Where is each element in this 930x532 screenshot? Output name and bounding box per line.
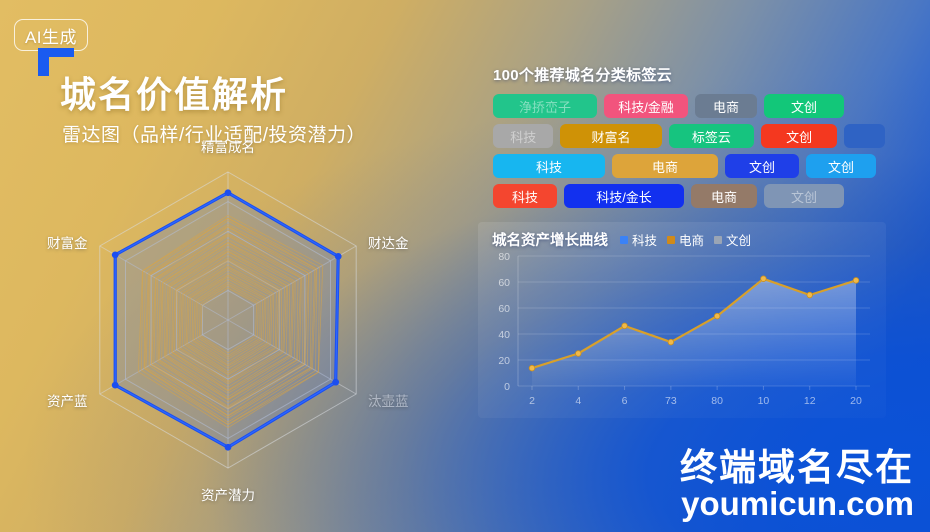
y-axis-tick-label: 40 [498,329,510,341]
y-axis-tick-label: 60 [498,303,510,315]
radar-axis-label-3: 资产潜力 [201,484,255,504]
growth-chart-legend: 科技电商文创 [620,230,751,249]
growth-chart-point [529,365,535,371]
legend-item[interactable]: 电商 [667,230,704,249]
tag-chip[interactable]: 浄挢峦子 [493,94,597,118]
x-axis-tick-label: 4 [575,395,581,407]
tag-chip[interactable]: 科技/金融 [604,94,688,118]
growth-chart-header: 城名资产增长曲线 科技电商文创 [492,229,751,250]
x-axis-tick-label: 73 [665,395,677,407]
radar-axis-label-5: 财富金 [47,232,88,252]
tag-chip[interactable]: 科技/金长 [564,184,684,208]
radar-axis-label-2: 汰壶蓝 [368,390,409,410]
watermark-line-cn: 终端域名尽在 [680,449,914,488]
legend-item[interactable]: 科技 [620,230,657,249]
tag-chip[interactable]: 标签云 [669,124,755,148]
tag-chip[interactable]: 文创 [764,184,844,208]
slide-canvas: AI生成 城名价值解析 雷达图（品样/行业适配/投资潜力） 精富成名 财达金 汰… [0,0,930,532]
y-axis-tick-label: 0 [504,381,510,393]
legend-item[interactable]: 文创 [714,230,751,249]
y-axis-tick-label: 20 [498,355,510,367]
growth-chart-point [714,313,720,319]
growth-chart-point [575,351,581,357]
growth-chart-point [761,276,767,282]
tagcloud-row: 科技财富名标签云文创 [493,124,885,148]
x-axis-tick-label: 10 [758,395,770,407]
growth-chart-point [622,323,628,329]
tag-chip[interactable]: 科技 [493,124,553,148]
page-title: 城名价值解析 [60,66,288,118]
tag-chip[interactable]: 电商 [612,154,718,178]
tagcloud-row: 科技科技/金长电商文创 [493,184,885,208]
y-axis-tick-label: 80 [498,251,510,263]
x-axis-tick-label: 20 [850,395,862,407]
radar-chart-svg [20,150,450,500]
ai-generated-badge: AI生成 [14,19,88,51]
tag-chip[interactable]: 电商 [695,94,757,118]
tag-chip[interactable]: 文创 [761,124,837,148]
radar-chart: 精富成名 财达金 汰壶蓝 资产潜力 资产蓝 财富金 [20,150,450,500]
tagcloud-row: 浄挢峦子科技/金融电商文创 [493,94,885,118]
tag-chip[interactable]: 财富名 [560,124,661,148]
legend-label: 电商 [679,230,704,249]
tag-chip[interactable]: 电商 [691,184,757,208]
x-axis-tick-label: 80 [711,395,723,407]
tagcloud-title: 100个推荐城名分类标签云 [493,64,672,85]
tag-chip[interactable] [844,124,885,148]
y-axis-tick-label: 60 [498,277,510,289]
tagcloud-list: 浄挢峦子科技/金融电商文创科技财富名标签云文创科技电商文创文创科技科技/金长电商… [493,94,885,214]
legend-swatch-icon [667,236,675,244]
tagcloud-row: 科技电商文创文创 [493,154,885,178]
x-axis-tick-label: 2 [529,395,535,407]
radar-axis-label-0: 精富成名 [201,136,255,156]
legend-label: 文创 [726,230,751,249]
tag-chip[interactable]: 科技 [493,154,605,178]
growth-chart-title: 城名资产增长曲线 [492,229,608,250]
growth-chart-point [807,292,813,298]
radar-axis-label-1: 财达金 [368,232,409,252]
growth-chart-panel: 城名资产增长曲线 科技电商文创 806060402002467380101220 [478,222,886,418]
growth-chart-svg: 806060402002467380101220 [478,248,886,418]
watermark-line-en: youmicun.com [680,487,914,522]
tag-chip[interactable]: 文创 [725,154,799,178]
growth-chart-point [668,339,674,345]
corner-mark-vertical-bar [38,48,49,76]
x-axis-tick-label: 12 [804,395,816,407]
watermark: 终端域名尽在 youmicun.com [680,449,914,522]
tag-chip[interactable]: 文创 [806,154,876,178]
legend-label: 科技 [632,230,657,249]
radar-axis-label-4: 资产蓝 [47,390,88,410]
legend-swatch-icon [714,236,722,244]
tag-chip[interactable]: 科技 [493,184,557,208]
growth-chart-point [853,278,859,284]
legend-swatch-icon [620,236,628,244]
tag-chip[interactable]: 文创 [764,94,844,118]
x-axis-tick-label: 6 [622,395,628,407]
